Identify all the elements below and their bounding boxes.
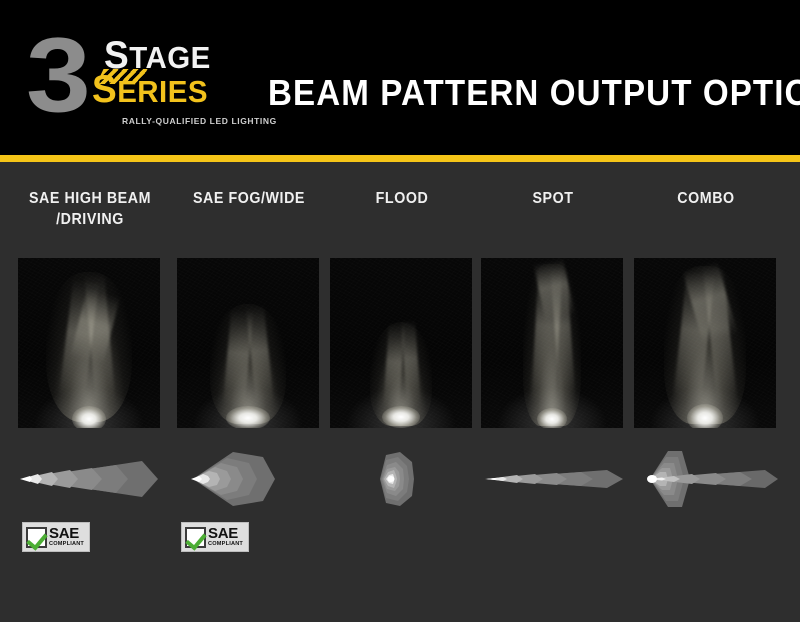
beam-column-sae-fog-wide: SAE FOG/WIDE [177, 162, 319, 622]
beam-photo-sae-high-beam-driving [18, 258, 160, 428]
logo-tagline: RALLY-QUALIFIED LED LIGHTING [122, 116, 277, 126]
photo-grain [481, 258, 623, 428]
sae-compliant-badge: SAE COMPLIANT [22, 522, 90, 552]
photo-grain [18, 258, 160, 428]
badge-secondary-label: COMPLIANT [208, 542, 243, 548]
beam-diagram-sae-high-beam-driving [12, 448, 166, 510]
beam-column-flood: FLOOD [330, 162, 472, 622]
column-header-label: SAE HIGH BEAM /DRIVING [13, 188, 168, 230]
check-icon [26, 527, 47, 548]
poster-header: 3 STAGE SERIES RALLY-QUALIFIED LED LIGHT… [0, 0, 800, 155]
beam-photo-spot [481, 258, 623, 428]
logo-word-series: SERIES [92, 74, 208, 107]
badge-primary-label: SAE [208, 526, 243, 541]
badge-primary-label: SAE [49, 526, 84, 541]
column-header-label: COMBO [632, 188, 779, 209]
photo-grain [634, 258, 776, 428]
logo-wordmark: STAGE SERIES RALLY-QUALIFIED LED LIGHTIN… [104, 40, 244, 128]
check-icon [185, 527, 206, 548]
page-title: BEAM PATTERN OUTPUT OPTIONS [268, 73, 800, 113]
column-header-label: SAE FOG/WIDE [175, 188, 322, 209]
beam-diagram-combo [628, 448, 782, 510]
badge-secondary-label: COMPLIANT [49, 542, 84, 548]
beam-diagram-spot [475, 448, 629, 510]
beam-diagram-sae-fog-wide [171, 448, 325, 510]
accent-stripe [0, 155, 800, 162]
photo-grain [330, 258, 472, 428]
column-header-label: FLOOD [328, 188, 475, 209]
beam-column-combo: COMBO [634, 162, 776, 622]
beam-pattern-poster: 3 STAGE SERIES RALLY-QUALIFIED LED LIGHT… [0, 0, 800, 622]
beam-columns-grid: SAE HIGH BEAM /DRIVING [0, 162, 800, 622]
beam-diagram-flood [324, 448, 478, 510]
column-header-label: SPOT [479, 188, 626, 209]
beam-photo-combo [634, 258, 776, 428]
logo-word-stage: STAGE [104, 40, 211, 73]
beam-photo-sae-fog-wide [177, 258, 319, 428]
badge-text: SAE COMPLIANT [208, 526, 243, 548]
sae-compliant-badge: SAE COMPLIANT [181, 522, 249, 552]
stage-series-logo: 3 STAGE SERIES RALLY-QUALIFIED LED LIGHT… [26, 30, 241, 130]
photo-grain [177, 258, 319, 428]
badge-text: SAE COMPLIANT [49, 526, 84, 548]
beam-photo-flood [330, 258, 472, 428]
beam-column-sae-high-beam-driving: SAE HIGH BEAM /DRIVING [18, 162, 160, 622]
beam-column-spot: SPOT [481, 162, 623, 622]
